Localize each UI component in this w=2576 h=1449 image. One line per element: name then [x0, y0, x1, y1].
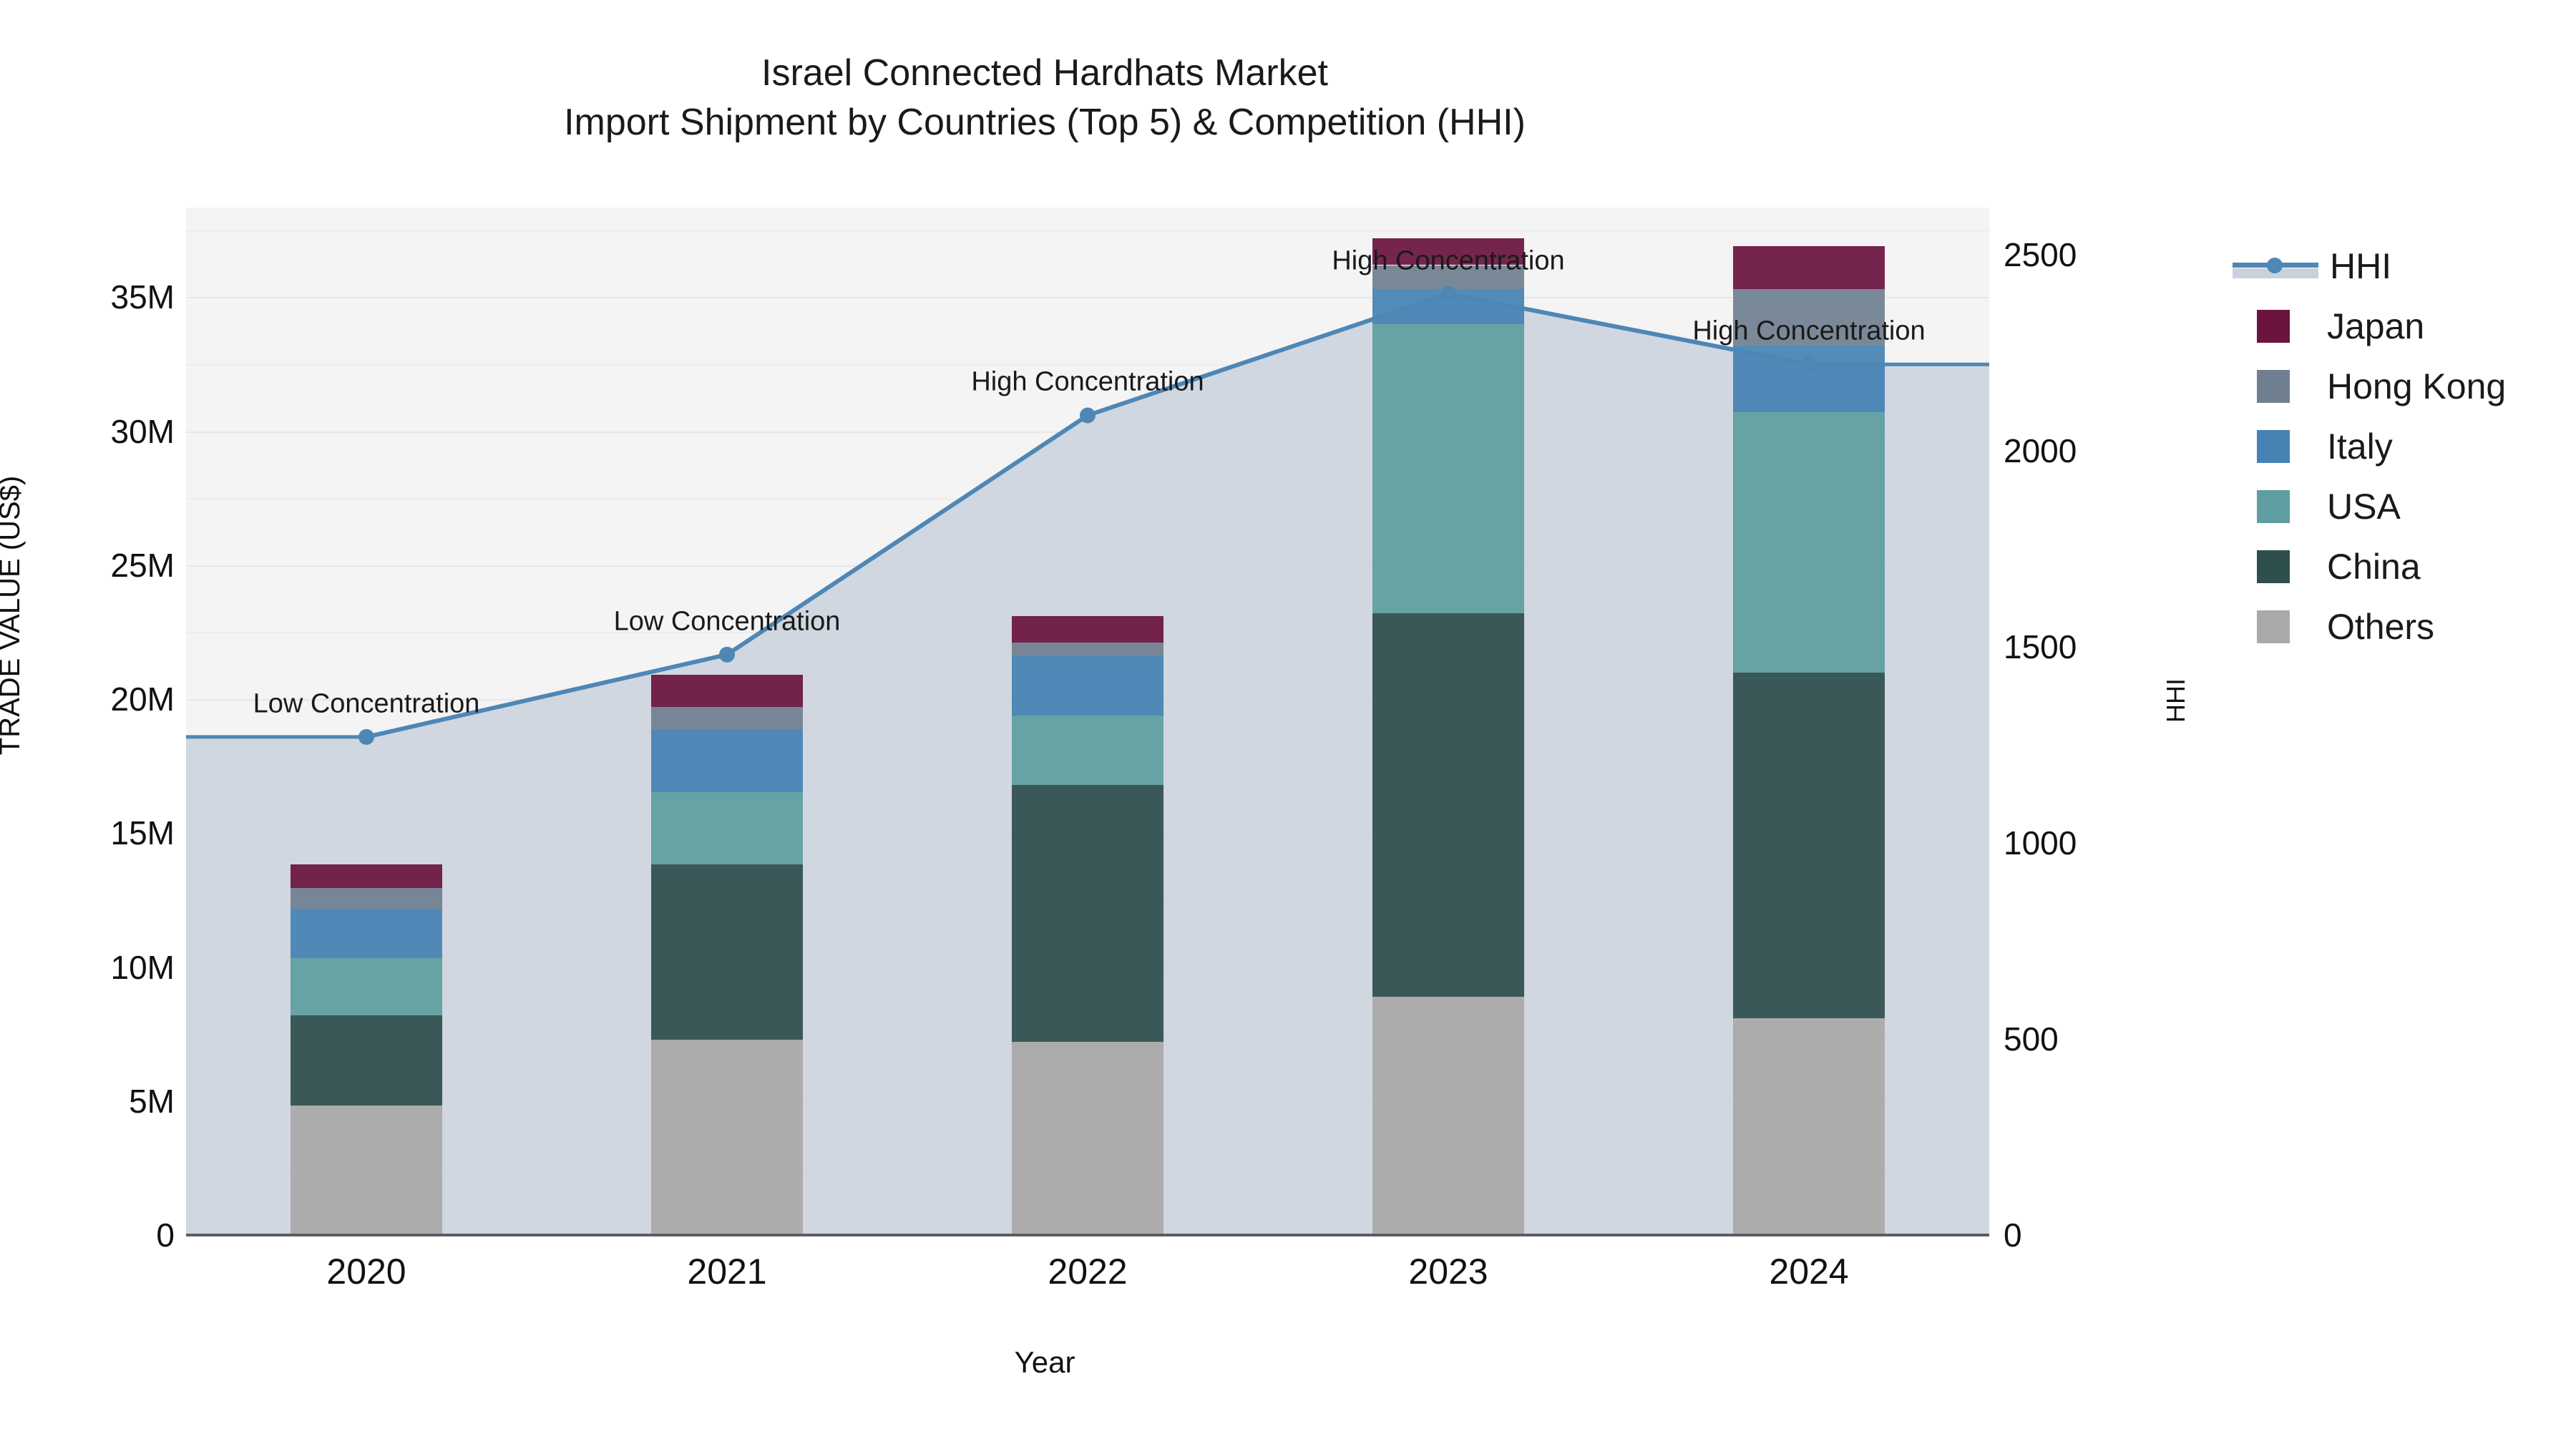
legend-label: HHI	[2330, 245, 2391, 287]
bar-segment-china-2022[interactable]	[1012, 785, 1163, 1042]
chart-title-block: Israel Connected Hardhats Market Import …	[0, 49, 2089, 147]
bar-segment-others-2021[interactable]	[651, 1040, 803, 1235]
legend-label: Others	[2327, 606, 2434, 648]
y-tick-right: 1500	[2004, 628, 2077, 666]
bar-segment-japan-2021[interactable]	[651, 675, 803, 707]
y-tick-left: 35M	[24, 278, 175, 316]
annotation-2021: Low Concentration	[614, 606, 841, 637]
legend-item-others[interactable]: Others	[2233, 597, 2506, 657]
bar-segment-italy-2023[interactable]	[1372, 289, 1524, 324]
y-tick-left: 30M	[24, 412, 175, 451]
bar-segment-others-2024[interactable]	[1733, 1018, 1885, 1235]
bar-segment-usa-2020[interactable]	[291, 958, 442, 1015]
hhi-point-2022[interactable]	[1080, 407, 1096, 423]
legend-swatch-icon	[2257, 490, 2290, 523]
legend-swatch-icon	[2257, 550, 2290, 583]
bar-segment-japan-2024[interactable]	[1733, 246, 1885, 289]
x-tick-2024: 2024	[1769, 1251, 1848, 1292]
x-axis-label: Year	[0, 1345, 2089, 1380]
bar-segment-others-2023[interactable]	[1372, 997, 1524, 1235]
legend-label: Hong Kong	[2327, 366, 2506, 407]
y-tick-left: 20M	[24, 680, 175, 718]
bar-segment-china-2021[interactable]	[651, 864, 803, 1040]
bar-segment-italy-2024[interactable]	[1733, 346, 1885, 413]
y-tick-right: 1000	[2004, 824, 2077, 862]
hhi-point-2020[interactable]	[358, 729, 374, 745]
x-tick-2022: 2022	[1048, 1251, 1127, 1292]
x-axis-line	[186, 1234, 1989, 1236]
legend-label: Japan	[2327, 306, 2424, 347]
chart-subtitle: Import Shipment by Countries (Top 5) & C…	[0, 98, 2089, 147]
bar-segment-china-2024[interactable]	[1733, 673, 1885, 1018]
y-tick-right: 0	[2004, 1216, 2022, 1254]
legend-label: Italy	[2327, 426, 2393, 467]
legend-swatch-icon	[2257, 430, 2290, 463]
legend-item-hong-kong[interactable]: Hong Kong	[2233, 356, 2506, 416]
bar-segment-others-2022[interactable]	[1012, 1042, 1163, 1235]
bar-segment-usa-2023[interactable]	[1372, 324, 1524, 613]
x-tick-2023: 2023	[1408, 1251, 1488, 1292]
bar-segment-italy-2021[interactable]	[651, 730, 803, 792]
legend-item-hhi[interactable]: HHI	[2233, 236, 2506, 296]
legend-item-italy[interactable]: Italy	[2233, 416, 2506, 477]
bar-segment-italy-2022[interactable]	[1012, 656, 1163, 715]
y-tick-left: 25M	[24, 546, 175, 585]
bar-segment-others-2020[interactable]	[291, 1106, 442, 1235]
legend-swatch-icon	[2257, 610, 2290, 643]
bar-segment-japan-2022[interactable]	[1012, 616, 1163, 643]
legend-swatch-icon	[2257, 370, 2290, 403]
bar-segment-italy-2020[interactable]	[291, 909, 442, 959]
hhi-point-2021[interactable]	[719, 647, 735, 663]
annotation-2020: Low Concentration	[253, 688, 480, 719]
bar-segment-china-2020[interactable]	[291, 1015, 442, 1106]
legend-item-china[interactable]: China	[2233, 537, 2506, 597]
bar-segment-usa-2024[interactable]	[1733, 412, 1885, 672]
y-tick-right: 500	[2004, 1020, 2059, 1058]
y-tick-right: 2000	[2004, 431, 2077, 470]
y-tick-left: 10M	[24, 948, 175, 987]
annotation-2022: High Concentration	[971, 367, 1204, 398]
gridline	[186, 230, 1989, 232]
legend-item-japan[interactable]: Japan	[2233, 296, 2506, 356]
bar-segment-japan-2020[interactable]	[291, 864, 442, 888]
y-tick-left: 0	[24, 1216, 175, 1254]
legend-label: China	[2327, 546, 2421, 587]
y-axis-right-label: HHI	[2161, 678, 2191, 723]
annotation-2023: High Concentration	[1332, 245, 1564, 276]
gridline	[186, 297, 1989, 298]
chart-canvas: Israel Connected Hardhats Market Import …	[0, 0, 2576, 1449]
gridline	[186, 565, 1989, 567]
plot-area	[186, 208, 1989, 1235]
bar-segment-china-2023[interactable]	[1372, 613, 1524, 996]
page-title: Israel Connected Hardhats Market	[0, 49, 2089, 98]
legend-label: USA	[2327, 486, 2401, 527]
bar-segment-hong-kong-2021[interactable]	[651, 707, 803, 731]
hhi-line-icon	[2233, 250, 2318, 283]
y-tick-right: 2500	[2004, 235, 2077, 274]
legend-item-usa[interactable]: USA	[2233, 477, 2506, 537]
y-axis-left-label: TRADE VALUE (US$)	[0, 476, 26, 755]
bar-segment-hong-kong-2022[interactable]	[1012, 643, 1163, 656]
gridline	[186, 431, 1989, 433]
x-tick-2021: 2021	[687, 1251, 766, 1292]
gridline	[186, 498, 1989, 499]
y-tick-left: 5M	[24, 1082, 175, 1121]
gridline	[186, 364, 1989, 366]
legend-swatch-icon	[2257, 310, 2290, 343]
y-tick-left: 15M	[24, 814, 175, 852]
bar-segment-usa-2021[interactable]	[651, 792, 803, 864]
chart-legend: HHIJapanHong KongItalyUSAChinaOthers	[2233, 236, 2506, 657]
bar-segment-usa-2022[interactable]	[1012, 716, 1163, 785]
x-tick-2020: 2020	[326, 1251, 406, 1292]
annotation-2024: High Concentration	[1692, 316, 1925, 347]
bar-segment-hong-kong-2020[interactable]	[291, 888, 442, 909]
